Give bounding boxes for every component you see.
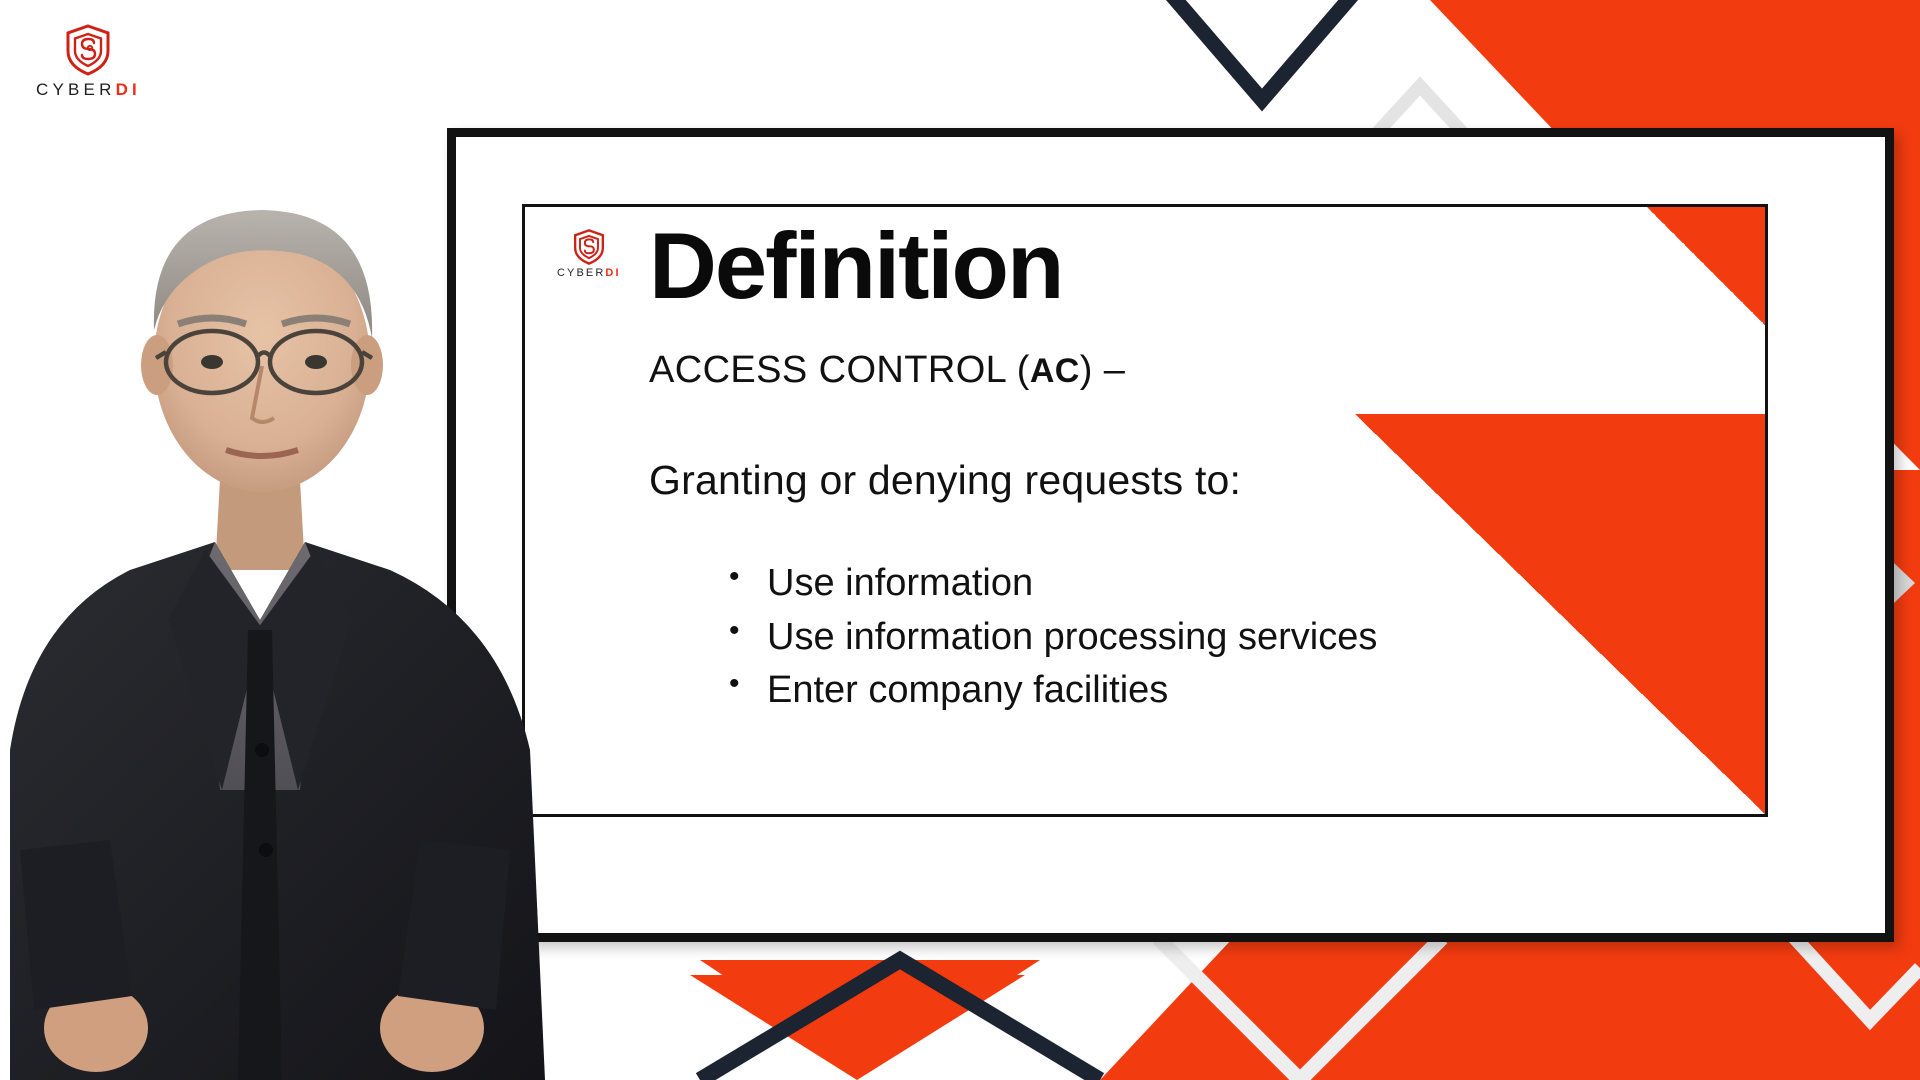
- list-item: Enter company facilities: [721, 667, 1481, 715]
- slide-content: CYBERDI Definition ACCESS CONTROL (AC) –…: [525, 207, 1765, 814]
- brand-name-primary: CYBER: [36, 80, 116, 99]
- list-item: Use information processing services: [721, 614, 1481, 662]
- subtitle-prefix: ACCESS CONTROL (: [649, 349, 1030, 391]
- presenter-eye-right: [305, 355, 327, 369]
- slide-inner-frame: CYBERDI Definition ACCESS CONTROL (AC) –…: [522, 204, 1768, 817]
- brand-name-accent: DI: [116, 80, 141, 99]
- shield-logo-icon: [64, 24, 112, 76]
- suit-button: [259, 843, 273, 857]
- brand-logo: CYBERDI: [36, 24, 141, 100]
- slide-bullet-list: Use information Use information processi…: [721, 560, 1481, 721]
- brand-wordmark: CYBERDI: [36, 80, 141, 100]
- subtitle-abbreviation: AC: [1030, 352, 1080, 390]
- slide-lead-text: Granting or denying requests to:: [649, 457, 1241, 504]
- presenter-neck: [215, 480, 305, 570]
- slide-subtitle: ACCESS CONTROL (AC) –: [649, 349, 1125, 392]
- presenter-video: [0, 150, 640, 1080]
- presenter-eye-left: [201, 355, 223, 369]
- list-item: Use information: [721, 560, 1481, 608]
- slide-title: Definition: [649, 213, 1062, 318]
- subtitle-suffix: ) –: [1080, 349, 1126, 391]
- suit-button: [255, 743, 269, 757]
- slide-card: CYBERDI Definition ACCESS CONTROL (AC) –…: [447, 128, 1894, 942]
